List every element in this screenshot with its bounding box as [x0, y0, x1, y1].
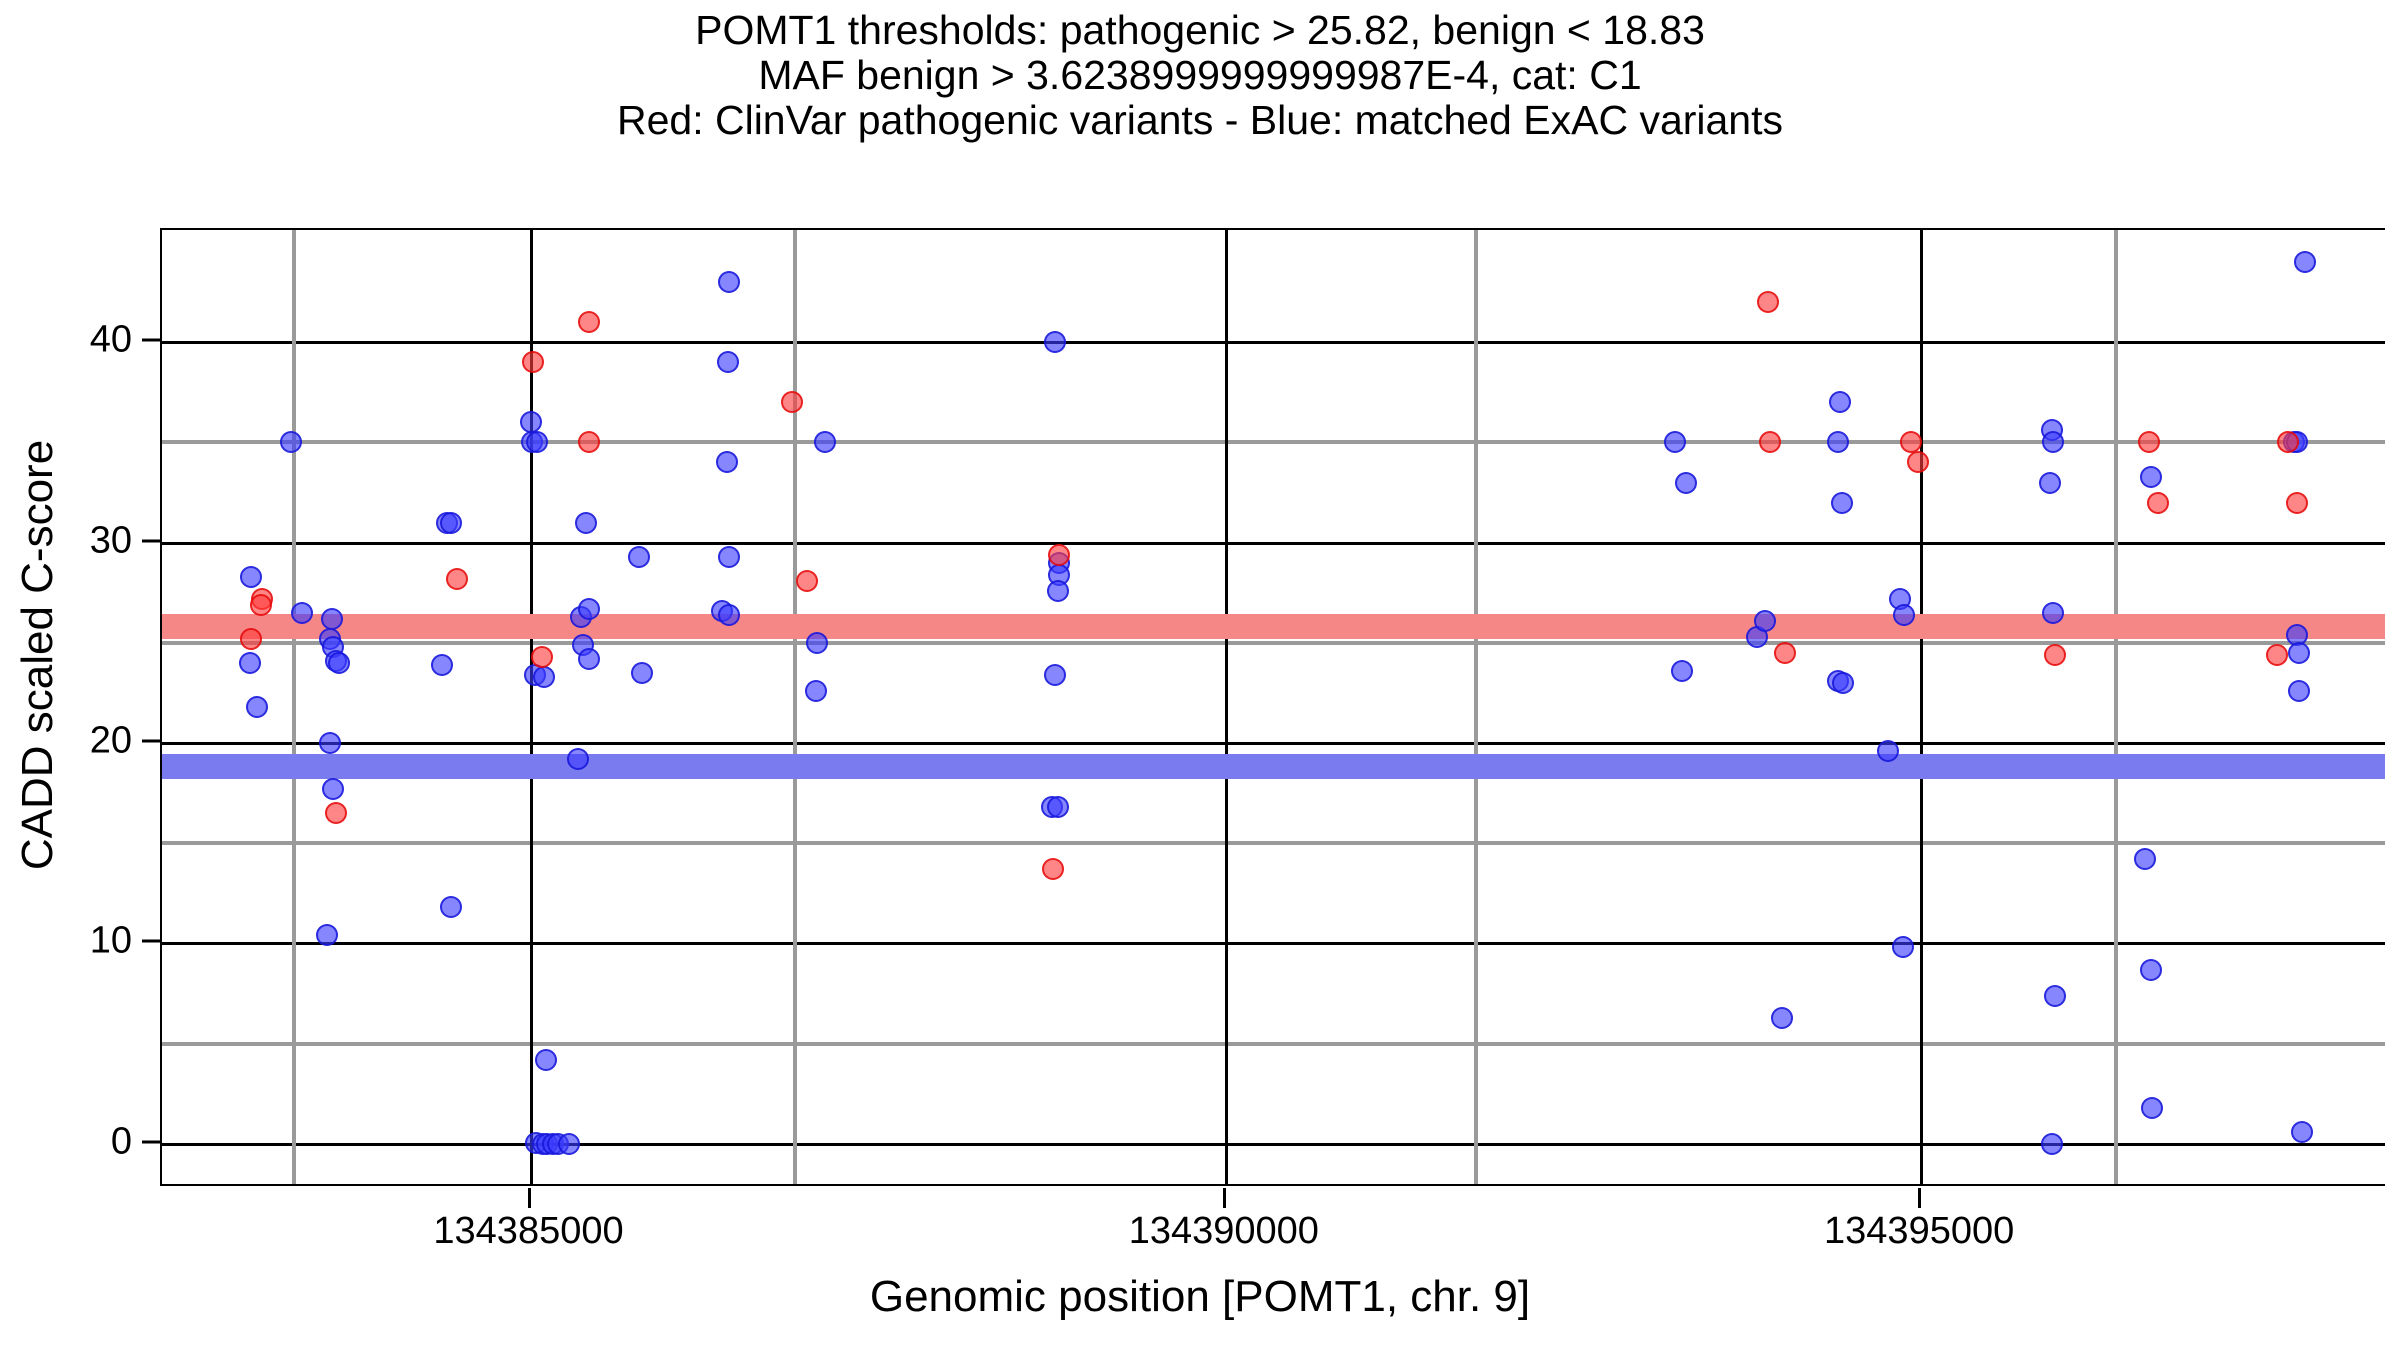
data-point-benign — [2041, 1133, 2063, 1155]
data-point-pathogenic — [1759, 431, 1781, 453]
data-point-benign — [2288, 642, 2310, 664]
data-point-pathogenic — [2286, 492, 2308, 514]
data-point-benign — [1044, 331, 1066, 353]
data-point-pathogenic — [1907, 451, 1929, 473]
data-point-benign — [718, 546, 740, 568]
data-point-pathogenic — [1774, 642, 1796, 664]
data-point-pathogenic — [578, 431, 600, 453]
chart-page: POMT1 thresholds: pathogenic > 25.82, be… — [0, 0, 2400, 1350]
data-point-benign — [533, 666, 555, 688]
data-point-benign — [716, 451, 738, 473]
gridline-x-major — [530, 230, 533, 1184]
x-axis-tick-label: 134390000 — [1129, 1210, 1319, 1253]
x-axis-tick-mark — [1918, 1188, 1921, 1208]
data-point-benign — [1664, 431, 1686, 453]
data-point-benign — [631, 662, 653, 684]
data-point-pathogenic — [240, 628, 262, 650]
title-line-maf: MAF benign > 3.6238999999999987E-4, cat:… — [0, 53, 2400, 98]
gridline-y-minor — [162, 1042, 2385, 1046]
y-axis-tick-mark — [142, 539, 160, 542]
data-point-benign — [440, 512, 462, 534]
data-point-benign — [2140, 466, 2162, 488]
data-point-benign — [1671, 660, 1693, 682]
data-point-benign — [2288, 680, 2310, 702]
chart-title: POMT1 thresholds: pathogenic > 25.82, be… — [0, 8, 2400, 143]
data-point-benign — [1044, 664, 1066, 686]
y-axis-tick-label: 40 — [12, 319, 132, 362]
x-axis-tick-label: 134385000 — [433, 1210, 623, 1253]
data-point-benign — [805, 680, 827, 702]
gridline-y-major — [162, 341, 2385, 344]
y-axis-tick-label: 0 — [12, 1120, 132, 1163]
title-line-legend: Red: ClinVar pathogenic variants - Blue:… — [0, 98, 2400, 143]
data-point-benign — [628, 546, 650, 568]
data-point-benign — [1831, 492, 1853, 514]
data-point-pathogenic — [531, 646, 553, 668]
benign-threshold-band — [162, 754, 2385, 779]
data-point-benign — [806, 632, 828, 654]
data-point-pathogenic — [1042, 858, 1064, 880]
title-line-thresholds: POMT1 thresholds: pathogenic > 25.82, be… — [0, 8, 2400, 53]
data-point-benign — [717, 351, 739, 373]
y-axis-tick-mark — [142, 940, 160, 943]
data-point-pathogenic — [2147, 492, 2169, 514]
data-point-benign — [718, 271, 740, 293]
data-point-pathogenic — [2138, 431, 2160, 453]
data-point-benign — [575, 512, 597, 534]
data-point-benign — [1829, 391, 1851, 413]
data-point-benign — [520, 411, 542, 433]
gridline-x-major — [1225, 230, 1228, 1184]
gridline-x-minor — [292, 230, 296, 1184]
y-axis-tick-mark — [142, 1140, 160, 1143]
data-point-pathogenic — [1757, 291, 1779, 313]
gridline-x-major — [1920, 230, 1923, 1184]
plot-inner — [162, 230, 2385, 1184]
data-point-benign — [431, 654, 453, 676]
y-axis-tick-label: 20 — [12, 720, 132, 763]
data-point-benign — [1877, 740, 1899, 762]
data-point-benign — [2042, 431, 2064, 453]
plot-area — [160, 228, 2385, 1186]
data-point-benign — [319, 732, 341, 754]
data-point-benign — [2294, 251, 2316, 273]
data-point-benign — [1047, 796, 1069, 818]
gridline-x-minor — [793, 230, 797, 1184]
x-axis-tick-label: 134395000 — [1824, 1210, 2014, 1253]
data-point-pathogenic — [446, 568, 468, 590]
data-point-benign — [2141, 1097, 2163, 1119]
y-axis-tick-label: 30 — [12, 519, 132, 562]
y-axis-tick-mark — [142, 339, 160, 342]
data-point-benign — [321, 608, 343, 630]
data-point-benign — [246, 696, 268, 718]
data-point-benign — [2291, 1121, 2313, 1143]
gridline-y-major — [162, 542, 2385, 545]
data-point-benign — [328, 652, 350, 674]
data-point-benign — [280, 431, 302, 453]
data-point-benign — [578, 648, 600, 670]
gridline-x-minor — [2114, 230, 2118, 1184]
data-point-benign — [2042, 602, 2064, 624]
data-point-pathogenic — [1048, 544, 1070, 566]
gridline-y-minor — [162, 841, 2385, 845]
data-point-benign — [1047, 580, 1069, 602]
x-axis-tick-mark — [528, 1188, 531, 1208]
data-point-benign — [814, 431, 836, 453]
data-point-pathogenic — [781, 391, 803, 413]
data-point-pathogenic — [2044, 644, 2066, 666]
data-point-benign — [2044, 985, 2066, 1007]
y-axis-label: CADD scaled C-score — [13, 295, 63, 1015]
gridline-y-major — [162, 942, 2385, 945]
data-point-benign — [1675, 472, 1697, 494]
data-point-benign — [322, 778, 344, 800]
data-point-benign — [1892, 936, 1914, 958]
data-point-benign — [2140, 959, 2162, 981]
data-point-benign — [2039, 472, 2061, 494]
data-point-benign — [578, 598, 600, 620]
data-point-benign — [239, 652, 261, 674]
data-point-benign — [240, 566, 262, 588]
data-point-pathogenic — [2266, 644, 2288, 666]
data-point-pathogenic — [325, 802, 347, 824]
data-point-pathogenic — [578, 311, 600, 333]
x-axis-tick-mark — [1223, 1188, 1226, 1208]
gridline-y-major — [162, 742, 2385, 745]
data-point-pathogenic — [250, 594, 272, 616]
y-axis-tick-mark — [142, 740, 160, 743]
data-point-pathogenic — [796, 570, 818, 592]
data-point-benign — [1827, 431, 1849, 453]
data-point-benign — [535, 1049, 557, 1071]
x-axis-label: Genomic position [POMT1, chr. 9] — [0, 1272, 2400, 1322]
data-point-pathogenic — [522, 351, 544, 373]
data-point-benign — [440, 896, 462, 918]
data-point-benign — [567, 748, 589, 770]
data-point-benign — [1832, 672, 1854, 694]
data-point-benign — [526, 431, 548, 453]
data-point-benign — [2134, 848, 2156, 870]
gridline-x-minor — [1474, 230, 1478, 1184]
y-axis-tick-label: 10 — [12, 920, 132, 963]
data-point-benign — [558, 1133, 580, 1155]
data-point-pathogenic — [1900, 431, 1922, 453]
data-point-benign — [1771, 1007, 1793, 1029]
